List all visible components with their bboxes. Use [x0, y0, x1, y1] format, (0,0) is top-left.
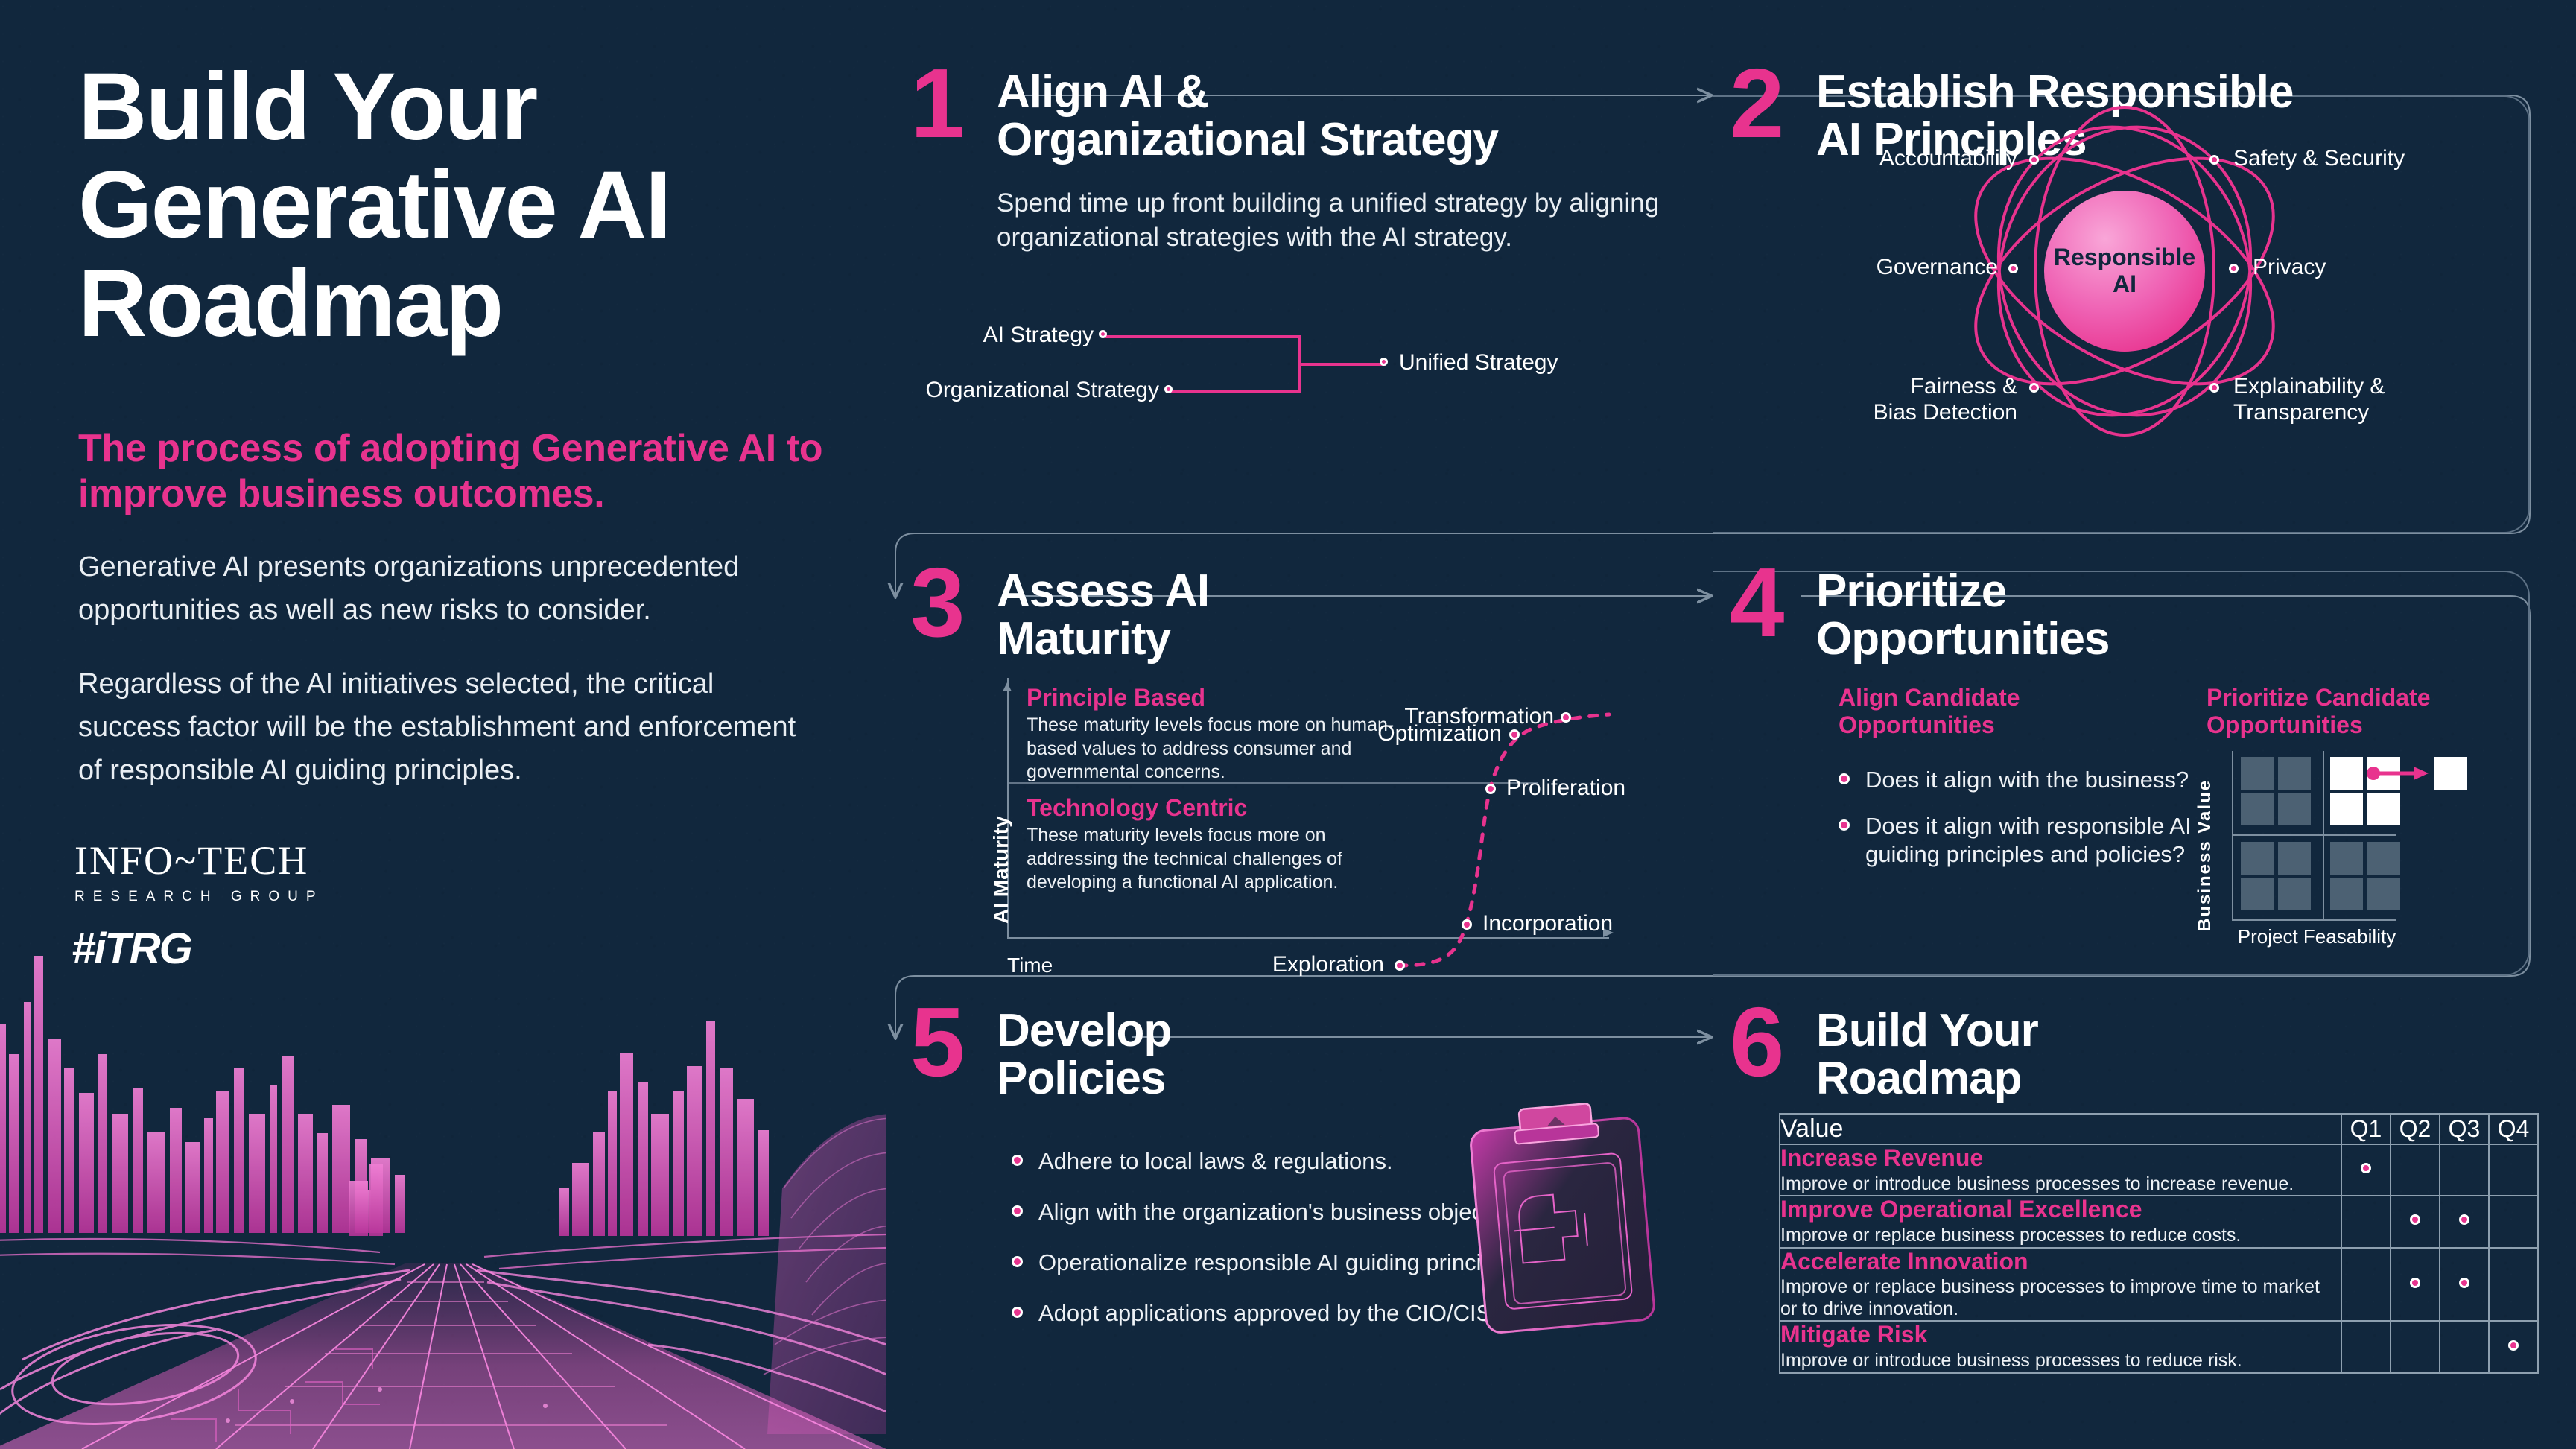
align-candidate-heading: Align Candidate Opportunities	[1839, 684, 2020, 739]
roadmap-quarter-cell-q2	[2391, 1196, 2440, 1247]
matrix-x-axis-label: Project Feasability	[2232, 925, 2402, 948]
quarter-marker-dot	[2410, 1214, 2420, 1225]
quarter-marker-dot	[2410, 1278, 2420, 1288]
roadmap-value-cell: Increase RevenueImprove or introduce bus…	[1780, 1144, 2341, 1196]
column-header-q2: Q2	[2391, 1114, 2440, 1144]
roadmap-value-description: Improve or introduce business processes …	[1780, 1173, 2341, 1196]
step-4-title: Prioritize Opportunities	[1816, 568, 2412, 664]
matrix-extracted-cell	[2434, 757, 2467, 790]
roadmap-quarter-cell-q3	[2440, 1196, 2489, 1247]
bullet-dot-icon	[1839, 773, 1850, 784]
roadmap-value-cell: Improve Operational ExcellenceImprove or…	[1780, 1196, 2341, 1247]
roadmap-value-description: Improve or introduce business processes …	[1780, 1350, 2341, 1372]
curve-dot-proliferation	[1485, 784, 1496, 794]
step-5-number: 5	[910, 1000, 961, 1085]
roadmap-value-cell: Accelerate InnovationImprove or replace …	[1780, 1248, 2341, 1322]
hero-subtitle: The process of adopting Generative AI to…	[78, 426, 853, 518]
principle-dot-accountability	[2029, 155, 2039, 165]
step-3-panel: 3 Assess AI Maturity AI Maturity Time Pr…	[894, 551, 1713, 968]
prioritization-matrix: Business Value	[2198, 743, 2510, 952]
roadmap-quarter-cell-q1	[2341, 1196, 2391, 1247]
roadmap-quarter-cell-q1	[2341, 1321, 2391, 1372]
step-4-panel: 4 Prioritize Opportunities Align Candida…	[1713, 551, 2533, 968]
principle-label-fairness-bias: Fairness & Bias Detection	[1795, 374, 2017, 426]
principle-label-privacy: Privacy	[2253, 255, 2326, 280]
curve-label-proliferation: Proliferation	[1506, 776, 1625, 801]
itrg-hashtag-logo: #iTRG	[72, 924, 191, 974]
step-5-panel: 5 Develop Policies Adhere to local laws …	[894, 991, 1713, 1408]
column-header-q4: Q4	[2489, 1114, 2538, 1144]
bullet-dot-icon	[1012, 1205, 1023, 1217]
info-tech-logo: INFO~TECH RESEARCH GROUP	[74, 840, 324, 905]
bullet-dot-icon	[1012, 1155, 1023, 1166]
roadmap-quarter-cell-q3	[2440, 1144, 2489, 1196]
node-dot-unified-strategy	[1380, 358, 1388, 366]
principle-dot-explainability	[2209, 383, 2219, 393]
infographic-poster: Build Your Generative AI Roadmap The pro…	[0, 0, 2576, 1449]
principle-dot-safety-security	[2209, 155, 2219, 165]
roadmap-quarter-cell-q4	[2489, 1248, 2538, 1322]
roadmap-value-cell: Mitigate RiskImprove or introduce busine…	[1780, 1321, 2341, 1372]
principle-label-explainability: Explainability & Transparency	[2233, 374, 2385, 426]
step-4-number: 4	[1730, 560, 1780, 645]
column-header-q3: Q3	[2440, 1114, 2489, 1144]
curve-dot-incorporation	[1462, 919, 1472, 930]
bullet-text: Does it align with responsible AI guidin…	[1865, 812, 2192, 869]
table-row: Mitigate RiskImprove or introduce busine…	[1780, 1321, 2538, 1372]
roadmap-table: Value Q1 Q2 Q3 Q4 Increase RevenueImprov…	[1779, 1113, 2539, 1374]
roadmap-value-description: Improve or replace business processes to…	[1780, 1225, 2341, 1247]
hero-paragraph-2: Regardless of the AI initiatives selecte…	[78, 663, 816, 792]
roadmap-quarter-cell-q2	[2391, 1144, 2440, 1196]
logo-tagline: RESEARCH GROUP	[74, 889, 324, 905]
atom-core-label-line1: Responsible	[2014, 244, 2235, 271]
table-header-row: Value Q1 Q2 Q3 Q4	[1780, 1114, 2538, 1144]
step-6-panel: 6 Build Your Roadmap Value Q1 Q2 Q3 Q4 I…	[1713, 991, 2570, 1408]
principle-label-governance: Governance	[1795, 255, 1998, 280]
curve-label-transformation: Transformation	[1333, 704, 1554, 729]
roadmap-value-name: Increase Revenue	[1780, 1145, 2341, 1172]
roadmap-quarter-cell-q1	[2341, 1144, 2391, 1196]
tree-branch-bottom	[1171, 390, 1301, 393]
roadmap-value-description: Improve or replace business processes to…	[1780, 1276, 2341, 1320]
unified-strategy-diagram: AI Strategy Organizational Strategy Unif…	[894, 52, 1713, 514]
responsible-ai-atom-diagram: Responsible AI Accountability Safety & S…	[1713, 52, 2533, 514]
bullet-dot-icon	[1012, 1307, 1023, 1318]
hero-paragraph-1: Generative AI presents organizations unp…	[78, 546, 816, 632]
roadmap-quarter-cell-q3	[2440, 1248, 2489, 1322]
bullet-dot-icon	[1012, 1256, 1023, 1267]
prioritize-candidate-heading: Prioritize Candidate Opportunities	[2207, 684, 2431, 739]
roadmap-quarter-cell-q2	[2391, 1321, 2440, 1372]
step-6-title: Build Your Roadmap	[1816, 1007, 2412, 1103]
table-row: Accelerate InnovationImprove or replace …	[1780, 1248, 2538, 1322]
roadmap-value-name: Improve Operational Excellence	[1780, 1196, 2341, 1223]
curve-dot-optimization	[1509, 729, 1520, 740]
principle-dot-fairness	[2029, 383, 2039, 393]
roadmap-quarter-cell-q4	[2489, 1196, 2538, 1247]
logo-wordmark: INFO~TECH	[74, 840, 324, 881]
node-label-org-strategy: Organizational Strategy	[894, 378, 1159, 403]
roadmap-quarter-cell-q4	[2489, 1321, 2538, 1372]
bullet-text: Adopt applications approved by the CIO/C…	[1038, 1299, 1516, 1328]
principle-dot-governance	[2008, 264, 2018, 273]
page-title: Build Your Generative AI Roadmap	[78, 58, 831, 352]
atom-core-label-line2: AI	[2014, 271, 2235, 298]
curve-dot-transformation	[1561, 712, 1571, 723]
principle-dot-privacy	[2229, 264, 2239, 273]
roadmap-value-name: Accelerate Innovation	[1780, 1249, 2341, 1275]
bullet-text: Does it align with the business?	[1865, 766, 2189, 794]
tree-output-stem	[1298, 363, 1386, 366]
quarter-marker-dot	[2459, 1278, 2469, 1288]
step-6-number: 6	[1730, 1000, 1780, 1085]
roadmap-quarter-cell-q4	[2489, 1144, 2538, 1196]
quarter-marker-dot	[2361, 1163, 2371, 1173]
hero-panel: Build Your Generative AI Roadmap The pro…	[0, 0, 879, 1449]
roadmap-value-name: Mitigate Risk	[1780, 1322, 2341, 1348]
atom-core-label: Responsible AI	[2014, 244, 2235, 298]
bullet-text: Adhere to local laws & regulations.	[1038, 1147, 1393, 1176]
node-dot-ai-strategy	[1099, 330, 1107, 338]
roadmap-quarter-cell-q1	[2341, 1248, 2391, 1322]
node-dot-org-strategy	[1164, 385, 1173, 393]
quarter-marker-dot	[2459, 1214, 2469, 1225]
node-label-ai-strategy: AI Strategy	[894, 323, 1094, 348]
roadmap-quarter-cell-q3	[2440, 1321, 2489, 1372]
column-header-value: Value	[1780, 1114, 2341, 1144]
table-row: Improve Operational ExcellenceImprove or…	[1780, 1196, 2538, 1247]
principle-label-accountability: Accountability	[1803, 146, 2017, 171]
maturity-s-curve	[894, 551, 1713, 968]
curve-label-incorporation: Incorporation	[1482, 911, 1613, 936]
tree-branch-top	[1105, 335, 1301, 338]
curve-dot-exploration	[1395, 960, 1405, 971]
step-2-panel: 2 Establish Responsible AI Principles	[1713, 52, 2533, 514]
principle-label-safety-security: Safety & Security	[2233, 146, 2405, 171]
step-1-panel: 1 Align AI & Organizational Strategy Spe…	[894, 52, 1713, 514]
column-header-q1: Q1	[2341, 1114, 2391, 1144]
bullet-dot-icon	[1839, 819, 1850, 831]
node-label-unified-strategy: Unified Strategy	[1399, 350, 1558, 375]
curve-label-exploration: Exploration	[1192, 952, 1384, 977]
clipboard-icon	[1445, 1080, 1691, 1348]
roadmap-quarter-cell-q2	[2391, 1248, 2440, 1322]
quarter-marker-dot	[2508, 1340, 2519, 1351]
table-row: Increase RevenueImprove or introduce bus…	[1780, 1144, 2538, 1196]
